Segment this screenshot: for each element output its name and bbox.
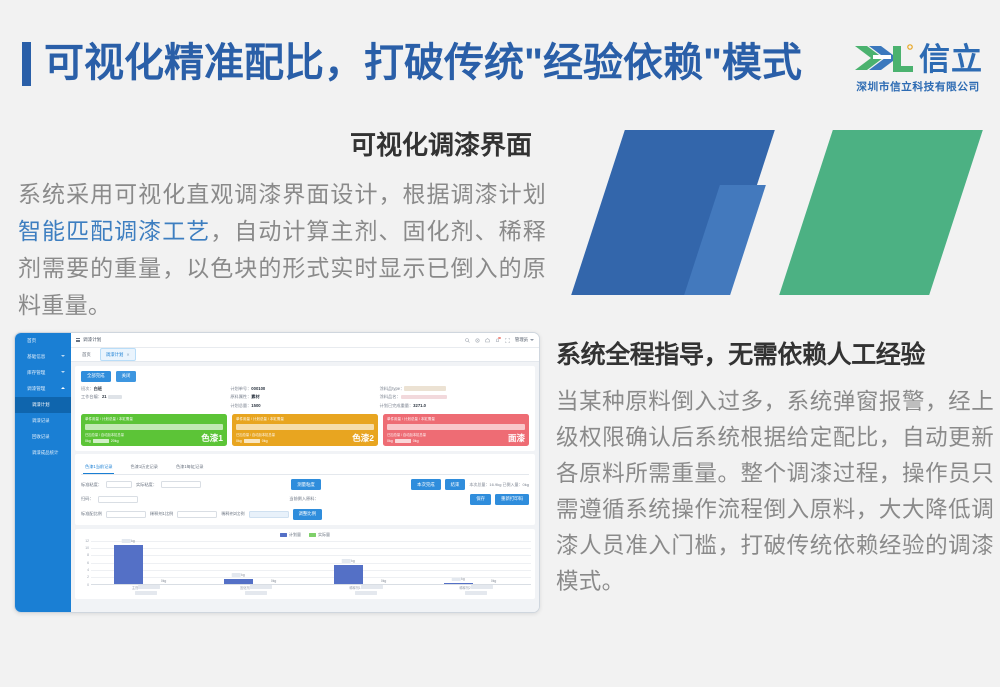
- legend-plan[interactable]: 计划量: [280, 532, 301, 538]
- tab-history-record[interactable]: 色漆1历史记录: [128, 461, 159, 474]
- plan-panel: 全部完成 关闭 班次：白班 计划单号：000100 涂料品type： 工作台编：…: [75, 366, 535, 451]
- bar-value-label: 0kg: [161, 579, 166, 583]
- fullscreen-icon[interactable]: [505, 338, 510, 343]
- card-value-2: 0kg: [262, 439, 268, 443]
- close-plan-button[interactable]: 关闭: [116, 371, 137, 382]
- logo-xl-icon: [853, 42, 915, 76]
- chart-legend: 计划量 实际量: [79, 532, 531, 538]
- search-icon[interactable]: [465, 338, 470, 343]
- sidebar-item-recycle-records[interactable]: 回收记录: [15, 429, 71, 445]
- plan-toolbar: 全部完成 关闭: [81, 371, 529, 382]
- sidebar-item-label: 首页: [27, 338, 36, 343]
- std-viscosity-input[interactable]: [106, 481, 132, 488]
- card-title: 面漆: [508, 432, 525, 444]
- bar-value-label: kg: [122, 539, 135, 543]
- tab-label: 调漆计划: [106, 352, 124, 358]
- title-accent-bar: [22, 42, 31, 86]
- ratio-3-input[interactable]: [249, 511, 289, 518]
- adjust-ratio-button[interactable]: 调整比例: [293, 509, 323, 520]
- card-values: 0kg 0kg: [387, 439, 525, 443]
- y-tick: 4: [87, 568, 89, 572]
- chart-bars: kg 0kg kg 0kg kg 0kg kg: [91, 541, 531, 585]
- bell-icon[interactable]: [495, 338, 500, 343]
- bar-value-label: kg: [452, 577, 465, 581]
- ratio-2-input[interactable]: [177, 511, 217, 518]
- ratio-3-label: 稀释剂2比例: [221, 511, 244, 517]
- parallelogram-green: [779, 130, 983, 295]
- sidebar-item-inventory[interactable]: 库存管理: [15, 365, 71, 381]
- sidebar-item-label: 调漆计划: [32, 402, 50, 407]
- card-value-fill: [244, 439, 260, 443]
- info-coating-name: 涂料品名：: [380, 394, 529, 400]
- legend-swatch-plan: [280, 533, 287, 537]
- material-cards: 单件用量 / 计划总量 / 本缸需量 已加总量 / 自动加本缸总量 0kg 20…: [81, 414, 529, 447]
- sidebar-item-paint-records[interactable]: 调漆记录: [15, 413, 71, 429]
- right-body: 当某种原料倒入过多，系统弹窗报警，经上级权限确认后系统根据给定配比，自动更新各原…: [556, 384, 994, 600]
- current-material-label: 当前倒入原料：: [289, 496, 318, 502]
- legend-label: 计划量: [289, 532, 301, 537]
- left-body-part1: 系统采用可视化直观调漆界面设计，根据调漆计划: [18, 181, 546, 207]
- card-head: 单件用量 / 计划总量 / 本缸需量: [387, 417, 525, 422]
- bar-value-label: 0kg: [381, 579, 386, 583]
- sidebar-item-label: 回收记录: [32, 434, 50, 439]
- reprint-button[interactable]: 重新打印码: [495, 494, 529, 505]
- app-tab-bar: 首页 调漆计划 ✕: [71, 348, 539, 362]
- info-value: 1500: [251, 403, 260, 408]
- x-tick: 稀释剂1: [324, 585, 408, 595]
- x-tick-label: 固化剂: [240, 586, 250, 590]
- bar-plan[interactable]: kg: [334, 565, 362, 585]
- user-menu[interactable]: 管理员: [515, 337, 534, 343]
- card-value-fill: [93, 439, 109, 443]
- x-tick: 主剂: [104, 585, 188, 595]
- tab-label: 首页: [82, 352, 91, 357]
- right-text-section: 系统全程指导，无需依赖人工经验 当某种原料倒入过多，系统弹窗报警，经上级权限确认…: [556, 338, 994, 600]
- chevron-down-icon: [61, 371, 65, 373]
- ratio-2-label: 稀释剂1比例: [150, 511, 173, 517]
- left-heading: 可视化调漆界面: [18, 128, 546, 162]
- bar-value-label: kg: [342, 559, 355, 563]
- scan-row: 扫码： 当前倒入原料： 保存 重新打印码: [81, 494, 529, 505]
- info-shift: 班次：白班: [81, 386, 230, 392]
- finish-button[interactable]: 结束: [445, 479, 466, 490]
- y-tick: 0: [87, 583, 89, 587]
- ratio-1-input[interactable]: [106, 511, 146, 518]
- info-value: 素材: [251, 394, 259, 399]
- bar-plan[interactable]: kg: [114, 545, 142, 585]
- theme-icon[interactable]: [485, 338, 490, 343]
- topbar-icon-group: 管理员: [465, 337, 534, 343]
- sidebar-item-paint-management[interactable]: 调漆管理: [15, 381, 71, 397]
- card-value-1: 0kg: [236, 439, 242, 443]
- sidebar-item-product-stats[interactable]: 调漆成品统计: [15, 445, 71, 461]
- poster-page: 可视化精准配比，打破传统"经验依赖"模式: [0, 0, 1000, 687]
- app-screenshot: 首页 基础信息 库存管理 调漆管理 调漆计划 调漆记录 回收记录: [14, 332, 540, 613]
- ratio-row: 标准配比例 稀释剂1比例 稀释剂2比例 调整比例: [81, 509, 529, 520]
- card-value-2: 20kg: [111, 439, 119, 443]
- y-tick: 10: [85, 546, 89, 550]
- bar-group: kg 0kg: [324, 541, 408, 585]
- info-material-attr: 原料属性：素材: [230, 394, 379, 400]
- info-coating-type: 涂料品type：: [380, 386, 529, 392]
- bar-group: kg 0kg: [434, 541, 518, 585]
- y-tick: 6: [87, 561, 89, 565]
- actual-viscosity-label: 实际粘度：: [136, 482, 157, 488]
- tab-current-record[interactable]: 色漆1当前记录: [83, 461, 114, 474]
- complete-batch-button[interactable]: 本次完成: [411, 479, 441, 490]
- app-sidebar: 首页 基础信息 库存管理 调漆管理 调漆计划 调漆记录 回收记录: [15, 333, 71, 613]
- measure-viscosity-button[interactable]: 测量粘度: [291, 479, 321, 490]
- sidebar-item-label: 基础信息: [27, 354, 45, 359]
- record-panel: 色漆1当前记录 色漆1历史记录 色漆1每缸记录 标准粘度： 实际粘度： 测量粘度…: [75, 454, 535, 524]
- card-title: 色漆1: [201, 432, 223, 444]
- legend-swatch-actual: [309, 533, 316, 537]
- y-tick: 8: [87, 553, 89, 557]
- card-value-1: 0kg: [387, 439, 393, 443]
- sidebar-item-basic-info[interactable]: 基础信息: [15, 349, 71, 365]
- card-head: 单件用量 / 计划总量 / 本缸需量: [85, 417, 223, 422]
- card-value-1: 0kg: [85, 439, 91, 443]
- legend-label: 实际量: [318, 532, 330, 537]
- bar-value-label: 0kg: [271, 579, 276, 583]
- sidebar-item-label: 调漆管理: [27, 386, 45, 391]
- sidebar-item-label: 调漆记录: [32, 418, 50, 423]
- tab-home[interactable]: 首页: [76, 348, 97, 361]
- chevron-up-icon: [61, 387, 65, 389]
- masked-value: [404, 386, 446, 390]
- sidebar-item-label: 调漆成品统计: [32, 450, 58, 455]
- viscosity-row: 标准粘度： 实际粘度： 测量粘度 本次完成 结束 本次总量：16.9kg 已倒入…: [81, 479, 529, 490]
- y-tick: 2: [87, 575, 89, 579]
- card-progress-bar: [85, 424, 223, 430]
- save-button[interactable]: 保存: [470, 494, 491, 505]
- app-main: 调漆计划: [71, 333, 539, 612]
- card-progress-bar: [236, 424, 374, 430]
- bar-value-label: kg: [232, 573, 245, 577]
- decorative-parallelograms: [556, 130, 996, 295]
- company-logo: 信立 深圳市信立科技有限公司: [844, 36, 992, 98]
- sidebar-item-label: 库存管理: [27, 370, 45, 375]
- scan-label: 扫码：: [81, 496, 94, 502]
- x-tick: 固化剂: [214, 585, 298, 595]
- actual-viscosity-input[interactable]: [161, 481, 201, 488]
- y-tick: 12: [85, 539, 89, 543]
- info-plan-no: 计划单号：000100: [230, 386, 379, 392]
- sidebar-item-paint-plan[interactable]: 调漆计划: [15, 397, 71, 413]
- info-workbench: 工作台编：21: [81, 394, 230, 400]
- chart-y-axis: 0 2 4 6 8 10 12: [79, 541, 91, 585]
- std-viscosity-label: 标准粘度：: [81, 482, 102, 488]
- card-value-2: 0kg: [413, 439, 419, 443]
- chevron-down-icon: [530, 339, 534, 341]
- material-bar-chart: 计划量 实际量 0 2 4 6 8 10 12: [75, 529, 535, 599]
- masked-value: [108, 395, 122, 399]
- app-topbar: 调漆计划: [71, 333, 539, 348]
- logo-subtitle: 深圳市信立科技有限公司: [843, 79, 994, 94]
- info-value: 000100: [251, 386, 265, 391]
- scan-input[interactable]: [98, 496, 138, 503]
- refresh-icon[interactable]: [475, 338, 480, 343]
- legend-actual[interactable]: 实际量: [309, 532, 330, 538]
- chart-x-labels: 主剂 固化剂 稀释剂1 稀释剂2: [91, 585, 531, 595]
- x-tick-label: 稀释剂2: [459, 586, 470, 590]
- x-tick: 稀释剂2: [434, 585, 518, 595]
- bar-group: kg 0kg: [214, 541, 298, 585]
- card-color-paint-2[interactable]: 单件用量 / 计划总量 / 本缸需量 已加总量 / 自动加本缸总量 0kg 0k…: [232, 414, 378, 447]
- info-value: 白班: [94, 386, 102, 391]
- sidebar-item-home[interactable]: 首页: [15, 333, 71, 349]
- card-top-coat[interactable]: 单件用量 / 计划总量 / 本缸需量 已加总量 / 自动加本缸总量 0kg 0k…: [383, 414, 529, 447]
- card-progress-bar: [387, 424, 525, 430]
- right-heading: 系统全程指导，无需依赖人工经验: [556, 338, 994, 372]
- left-body: 系统采用可视化直观调漆界面设计，根据调漆计划智能匹配调漆工艺，自动计算主剂、固化…: [18, 176, 546, 324]
- notification-badge: [498, 337, 501, 340]
- chart-plot-area: 0 2 4 6 8 10 12: [79, 541, 531, 595]
- close-icon[interactable]: ✕: [126, 352, 129, 357]
- breadcrumb: 调漆计划: [83, 337, 101, 343]
- plan-info-grid: 班次：白班 计划单号：000100 涂料品type： 工作台编：21 原料属性：…: [81, 386, 529, 409]
- tab-per-barrel-record[interactable]: 色漆1每缸记录: [174, 461, 205, 474]
- bar-group: kg 0kg: [104, 541, 188, 585]
- left-body-highlight: 智能匹配调漆工艺: [18, 218, 210, 244]
- left-text-section: 可视化调漆界面 系统采用可视化直观调漆界面设计，根据调漆计划智能匹配调漆工艺，自…: [18, 128, 546, 324]
- logo-name: 信立: [919, 44, 983, 76]
- card-value-fill: [395, 439, 411, 443]
- masked-value: [401, 395, 447, 399]
- complete-all-button[interactable]: 全部完成: [81, 371, 111, 382]
- info-value: 3271.0: [413, 403, 426, 408]
- card-title: 色漆2: [352, 432, 374, 444]
- info-plan-done: 计划已完成重量：3271.0: [380, 403, 529, 409]
- page-header: 可视化精准配比，打破传统"经验依赖"模式: [0, 34, 1000, 100]
- card-color-paint-1[interactable]: 单件用量 / 计划总量 / 本缸需量 已加总量 / 自动加本缸总量 0kg 20…: [81, 414, 227, 447]
- chevron-down-icon: [61, 355, 65, 357]
- ratio-1-label: 标准配比例: [81, 511, 102, 517]
- info-plan-total: 计划总量：1500: [230, 403, 379, 409]
- total-note: 本次总量：16.9kg 已倒入量：0kg: [469, 482, 529, 488]
- card-head: 单件用量 / 计划总量 / 本缸需量: [236, 417, 374, 422]
- card-sub: 已加总量 / 自动加本缸总量: [387, 432, 525, 437]
- info-value: 21: [102, 394, 107, 399]
- user-label: 管理员: [515, 337, 528, 343]
- tab-paint-plan[interactable]: 调漆计划 ✕: [100, 348, 136, 361]
- record-tab-bar: 色漆1当前记录 色漆1历史记录 色漆1每缸记录: [81, 461, 529, 475]
- page-title: 可视化精准配比，打破传统"经验依赖"模式: [44, 34, 802, 92]
- x-tick-label: 稀释剂1: [349, 586, 360, 590]
- bar-value-label: 0kg: [491, 579, 496, 583]
- menu-collapse-icon[interactable]: [76, 338, 80, 342]
- info-empty: [81, 403, 230, 409]
